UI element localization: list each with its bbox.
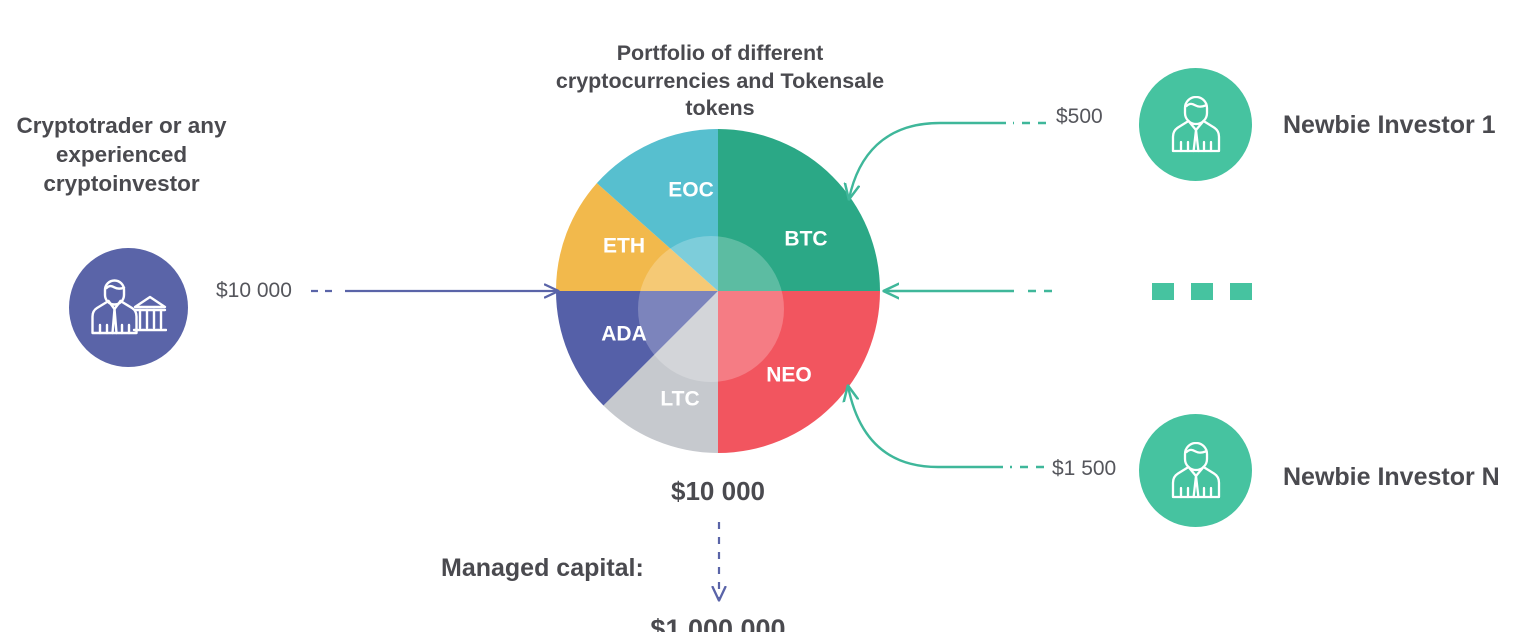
person-tie-icon (1171, 96, 1221, 154)
ellipsis-square (1230, 283, 1252, 300)
page-title: Portfolio of different cryptocurrencies … (540, 40, 900, 123)
investor-1-name: Newbie Investor 1 (1283, 111, 1496, 140)
trader-contribution-amount: $10 000 (216, 279, 292, 303)
ellipsis-square (1191, 283, 1213, 300)
pie-label-neo: NEO (766, 364, 812, 387)
pie-label-eth: ETH (603, 235, 645, 258)
investor-1-amount: $500 (1056, 105, 1103, 129)
managed-capital-value: $1 000 000 (608, 614, 828, 632)
investor-bank-icon (91, 277, 167, 339)
investor-n-amount: $1 500 (1052, 457, 1116, 481)
pie-label-ltc: LTC (660, 388, 699, 411)
pie-label-eoc: EOC (668, 179, 714, 202)
managed-capital-label: Managed capital: (441, 554, 644, 583)
person-tie-icon (1171, 442, 1221, 500)
avatar-cryptotrader (69, 248, 188, 367)
portfolio-total-amount: $10 000 (608, 476, 828, 507)
avatar-newbie-investor-1 (1139, 68, 1252, 181)
pie-center-highlight (638, 236, 784, 382)
pie-label-btc: BTC (784, 228, 827, 251)
cryptotrader-title: Cryptotrader or any experienced cryptoin… (0, 112, 243, 198)
pie-label-ada: ADA (601, 323, 647, 346)
more-investors-ellipsis (1152, 283, 1252, 300)
portfolio-pie-chart: BTC NEO LTC ADA ETH EOC (556, 129, 880, 453)
ellipsis-square (1152, 283, 1174, 300)
investor-n-name: Newbie Investor N (1283, 463, 1500, 492)
avatar-newbie-investor-n (1139, 414, 1252, 527)
infographic-canvas: Portfolio of different cryptocurrencies … (0, 0, 1538, 632)
